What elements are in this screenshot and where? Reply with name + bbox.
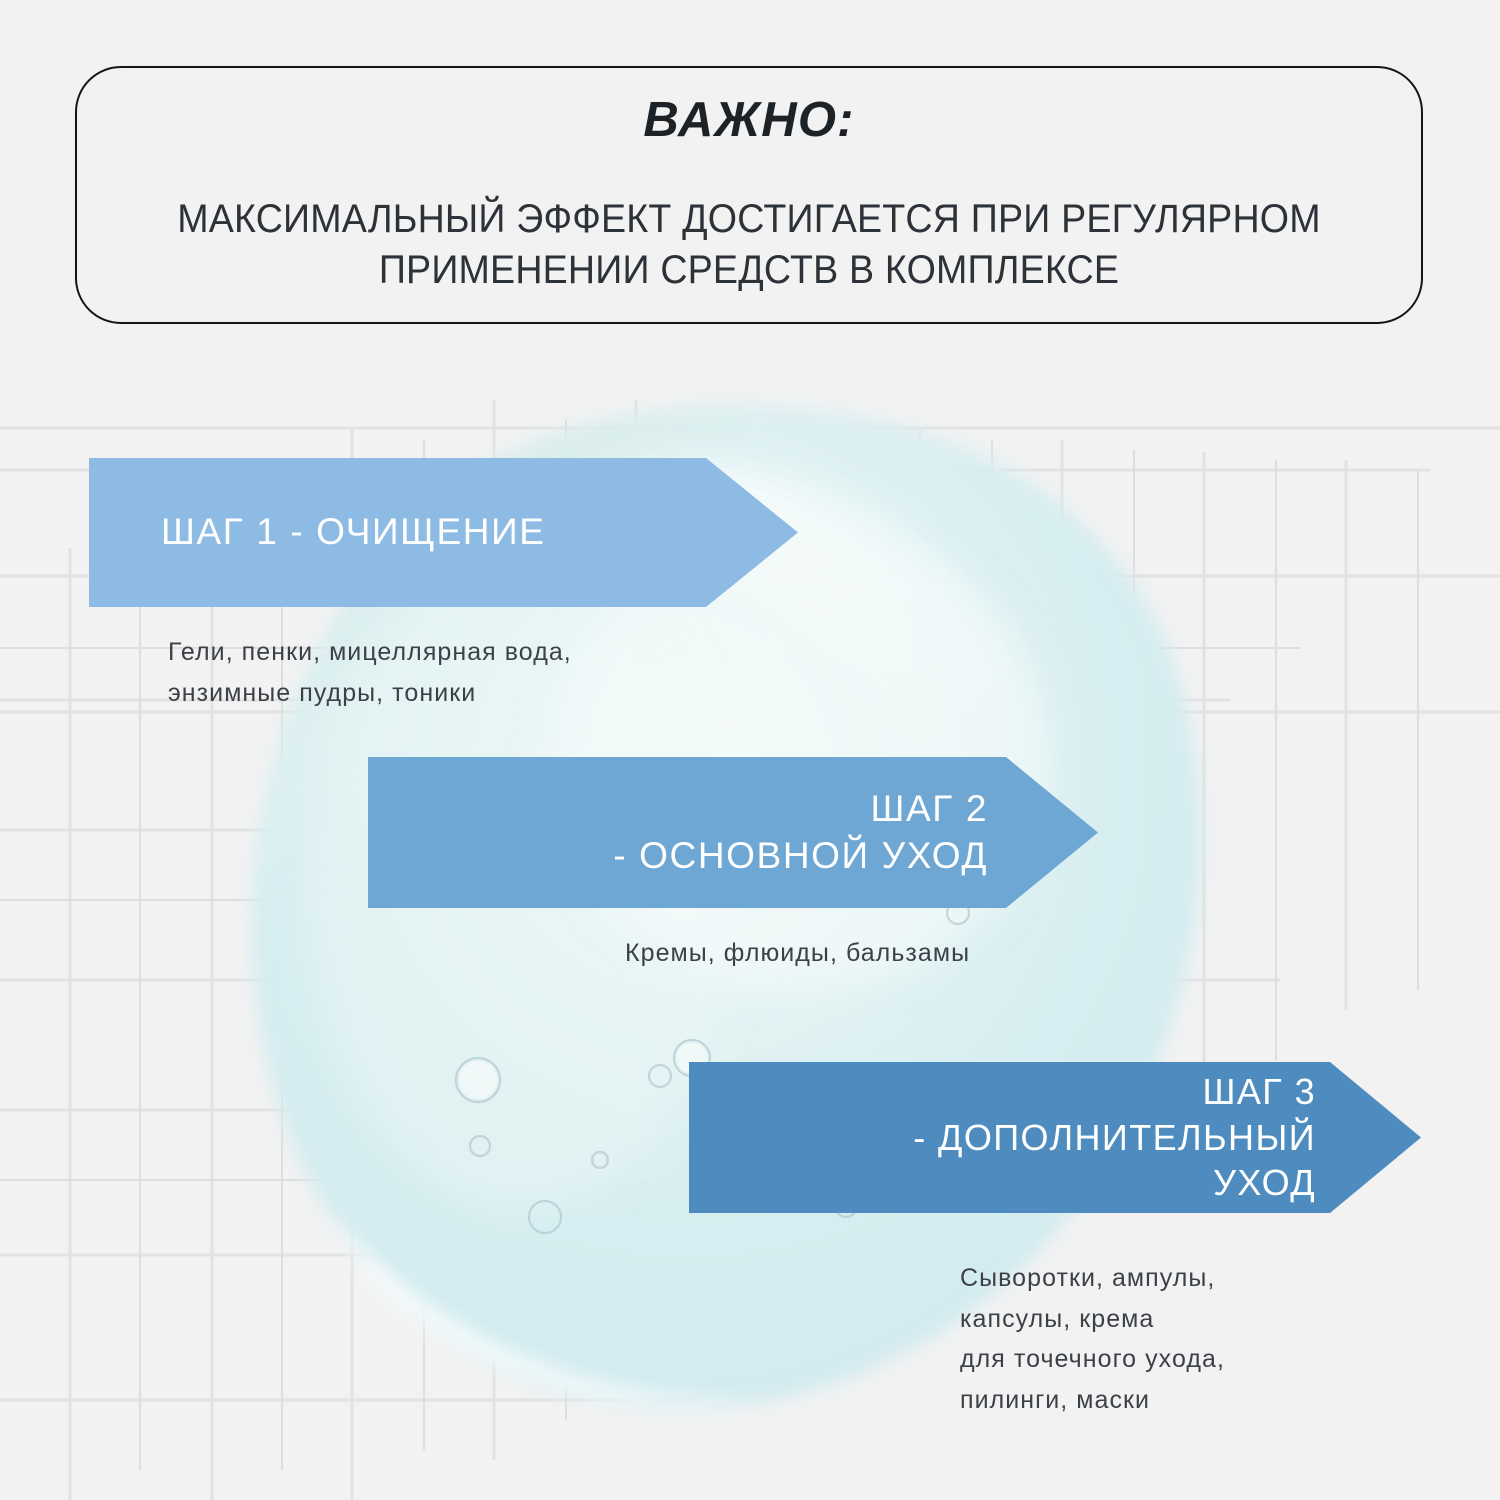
header-subtitle: МАКСИМАЛЬНЫЙ ЭФФЕКТ ДОСТИГАЕТСЯ ПРИ РЕГУ… [171,194,1327,296]
step-2-label: ШАГ 2 - ОСНОВНОЙ УХОД [428,786,988,879]
step-2-arrow-shape: ШАГ 2 - ОСНОВНОЙ УХОД [368,757,1098,908]
step-3-caption: Сыворотки, ампулы, капсулы, крема для то… [960,1258,1225,1420]
step-1-banner[interactable]: ШАГ 1 - ОЧИЩЕНИЕ [89,458,798,607]
step-3-label: ШАГ 3 - ДОПОЛНИТЕЛЬНЫЙ УХОД [739,1069,1316,1205]
infographic-canvas: ВАЖНО: МАКСИМАЛЬНЫЙ ЭФФЕКТ ДОСТИГАЕТСЯ П… [0,0,1500,1500]
page-title: ВАЖНО: [643,94,854,148]
step-1-arrow-shape: ШАГ 1 - ОЧИЩЕНИЕ [89,458,798,607]
step-1-caption: Гели, пенки, мицеллярная вода, энзимные … [168,632,572,713]
step-2-banner[interactable]: ШАГ 2 - ОСНОВНОЙ УХОД [368,757,1098,908]
step-2-caption: Кремы, флюиды, бальзамы [625,933,970,974]
important-callout-box: ВАЖНО: МАКСИМАЛЬНЫЙ ЭФФЕКТ ДОСТИГАЕТСЯ П… [75,66,1423,324]
step-3-banner[interactable]: ШАГ 3 - ДОПОЛНИТЕЛЬНЫЙ УХОД [689,1062,1421,1213]
step-1-label: ШАГ 1 - ОЧИЩЕНИЕ [161,509,678,556]
step-3-arrow-shape: ШАГ 3 - ДОПОЛНИТЕЛЬНЫЙ УХОД [689,1062,1421,1213]
